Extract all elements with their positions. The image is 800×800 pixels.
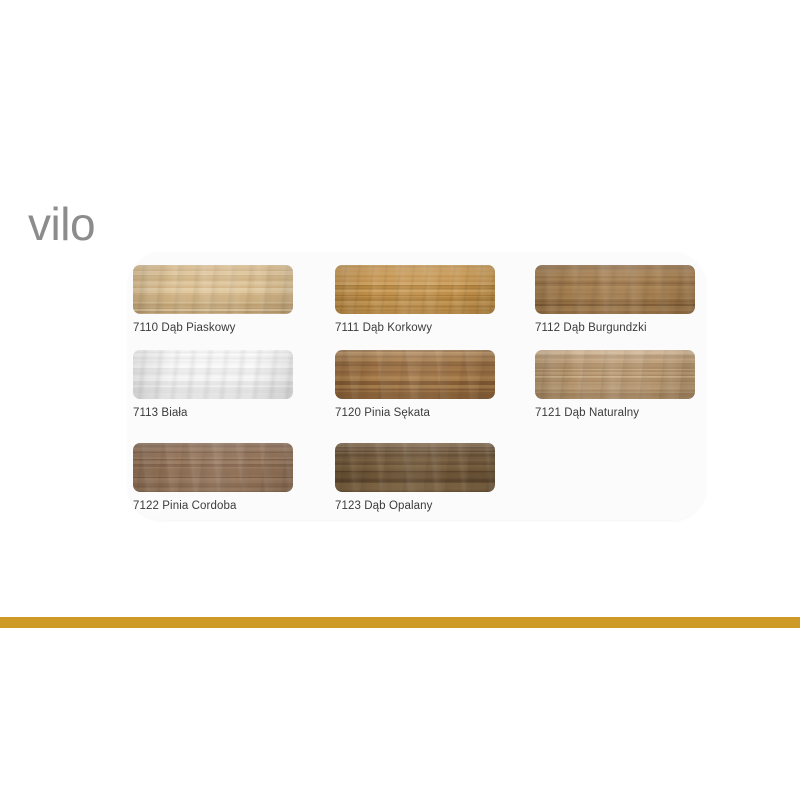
swatch-label-7110: 7110 Dąb Piaskowy xyxy=(133,322,293,334)
wood-grain-texture xyxy=(535,350,695,399)
wood-grain-texture xyxy=(335,265,495,314)
swatch-item-7121[interactable]: 7121 Dąb Naturalny xyxy=(535,350,695,419)
swatch-chip-7111[interactable] xyxy=(335,265,495,314)
wood-grain-texture xyxy=(133,265,293,314)
swatch-chip-7120[interactable] xyxy=(335,350,495,399)
brand-logo: vilo xyxy=(28,196,148,254)
swatch-chip-7121[interactable] xyxy=(535,350,695,399)
swatch-chip-7110[interactable] xyxy=(133,265,293,314)
swatch-label-7112: 7112 Dąb Burgundzki xyxy=(535,322,695,334)
swatch-chip-7123[interactable] xyxy=(335,443,495,492)
wood-grain-texture xyxy=(133,443,293,492)
swatch-label-7113: 7113 Biała xyxy=(133,407,293,419)
swatch-item-7122[interactable]: 7122 Pinia Cordoba xyxy=(133,443,293,512)
wood-grain-texture xyxy=(335,443,495,492)
swatch-grid: 7110 Dąb Piaskowy 7111 Dąb Korkowy 7112 … xyxy=(128,252,706,520)
vilo-wordmark-icon: vilo xyxy=(28,196,148,254)
swatch-label-7123: 7123 Dąb Opalany xyxy=(335,500,495,512)
swatch-label-7111: 7111 Dąb Korkowy xyxy=(335,322,495,334)
wood-grain-texture xyxy=(335,350,495,399)
brand-name: vilo xyxy=(28,198,95,250)
swatch-item-7123[interactable]: 7123 Dąb Opalany xyxy=(335,443,495,512)
swatch-card: 7110 Dąb Piaskowy 7111 Dąb Korkowy 7112 … xyxy=(128,252,706,520)
swatch-item-7113[interactable]: 7113 Biała xyxy=(133,350,293,419)
swatch-label-7120: 7120 Pinia Sękata xyxy=(335,407,495,419)
swatch-item-7110[interactable]: 7110 Dąb Piaskowy xyxy=(133,265,293,334)
swatch-item-7120[interactable]: 7120 Pinia Sękata xyxy=(335,350,495,419)
wood-grain-texture xyxy=(535,265,695,314)
swatch-label-7122: 7122 Pinia Cordoba xyxy=(133,500,293,512)
swatch-item-7111[interactable]: 7111 Dąb Korkowy xyxy=(335,265,495,334)
swatch-chip-7113[interactable] xyxy=(133,350,293,399)
accent-bar xyxy=(0,617,800,628)
swatch-chip-7112[interactable] xyxy=(535,265,695,314)
swatch-label-7121: 7121 Dąb Naturalny xyxy=(535,407,695,419)
wood-grain-texture xyxy=(133,350,293,399)
swatch-chip-7122[interactable] xyxy=(133,443,293,492)
swatch-item-7112[interactable]: 7112 Dąb Burgundzki xyxy=(535,265,695,334)
